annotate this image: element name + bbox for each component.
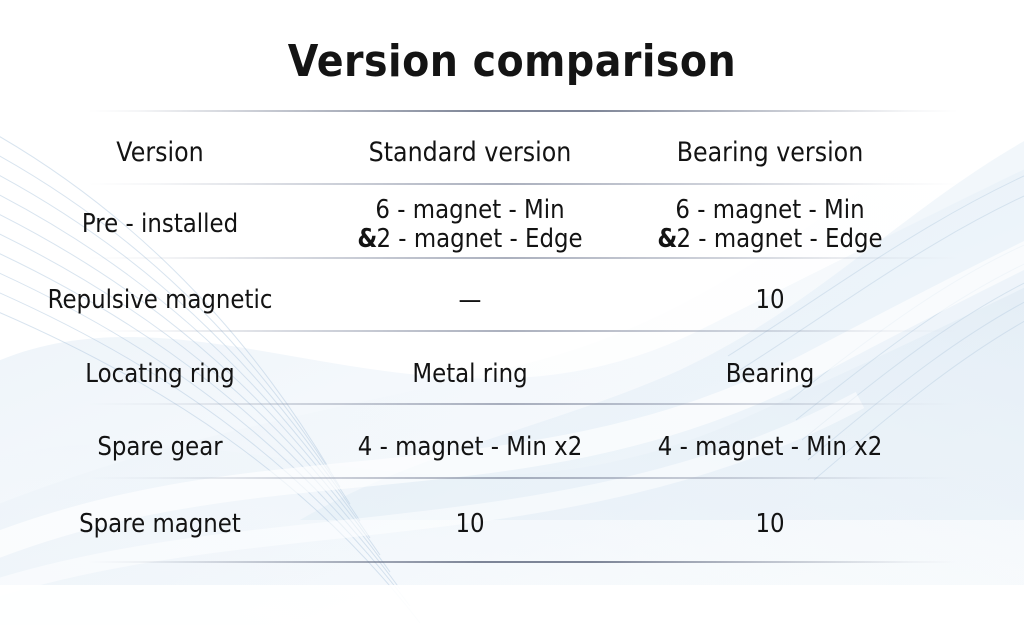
- table-row-locating-ring: Locating ring Metal ring Bearing: [0, 352, 1024, 398]
- header-cell-standard-version: Standard version: [338, 138, 602, 168]
- table-row-repulsive-magnetic: Repulsive magnetic — 10: [0, 278, 1024, 324]
- cell-standard-spare-gear: 4 - magnet - Min x2: [338, 433, 602, 462]
- cell-bearing-pre-installed-line2-text: 2 - magnet - Edge: [676, 224, 882, 254]
- ampersand-standard: &: [357, 224, 376, 254]
- cell-bearing-pre-installed: 6 - magnet - Min &2 - magnet - Edge: [638, 196, 902, 254]
- row-label-spare-gear: Spare gear: [19, 433, 301, 462]
- slide-content: Version comparison Version Standard vers…: [0, 0, 1024, 625]
- divider-after-pre-installed: [88, 257, 958, 259]
- page-title: Version comparison: [51, 40, 973, 84]
- table-row-pre-installed: Pre - installed 6 - magnet - Min &2 - ma…: [0, 196, 1024, 254]
- cell-bearing-locating-ring: Bearing: [638, 360, 902, 389]
- cell-standard-locating-ring: Metal ring: [338, 360, 602, 389]
- header-cell-bearing-version: Bearing version: [638, 138, 902, 168]
- cell-standard-spare-magnet: 10: [338, 510, 602, 539]
- cell-bearing-spare-gear: 4 - magnet - Min x2: [638, 433, 902, 462]
- divider-top: [88, 110, 958, 112]
- divider-after-locating-ring: [88, 403, 958, 405]
- cell-standard-repulsive-magnetic: —: [338, 286, 602, 315]
- table-row-spare-magnet: Spare magnet 10 10: [0, 502, 1024, 548]
- divider-after-header: [88, 183, 958, 185]
- divider-bottom: [88, 561, 958, 563]
- cell-standard-pre-installed: 6 - magnet - Min &2 - magnet - Edge: [338, 196, 602, 254]
- row-label-locating-ring: Locating ring: [19, 360, 301, 389]
- row-label-repulsive-magnetic: Repulsive magnetic: [19, 286, 301, 315]
- header-cell-version: Version: [19, 138, 301, 168]
- table-header-row: Version Standard version Bearing version: [0, 128, 1024, 178]
- divider-after-spare-gear: [88, 477, 958, 479]
- table-row-spare-gear: Spare gear 4 - magnet - Min x2 4 - magne…: [0, 425, 1024, 471]
- cell-standard-pre-installed-line2: &2 - magnet - Edge: [338, 225, 602, 254]
- cell-bearing-pre-installed-line2: &2 - magnet - Edge: [638, 225, 902, 254]
- cell-bearing-spare-magnet: 10: [638, 510, 902, 539]
- cell-standard-pre-installed-line1: 6 - magnet - Min: [338, 196, 602, 225]
- cell-standard-pre-installed-line2-text: 2 - magnet - Edge: [376, 224, 582, 254]
- cell-bearing-repulsive-magnetic: 10: [638, 286, 902, 315]
- row-label-pre-installed: Pre - installed: [19, 210, 301, 239]
- slide-canvas: Version comparison Version Standard vers…: [0, 0, 1024, 625]
- cell-bearing-pre-installed-line1: 6 - magnet - Min: [638, 196, 902, 225]
- row-label-spare-magnet: Spare magnet: [19, 510, 301, 539]
- divider-after-repulsive-magnetic: [88, 330, 958, 332]
- ampersand-bearing: &: [657, 224, 676, 254]
